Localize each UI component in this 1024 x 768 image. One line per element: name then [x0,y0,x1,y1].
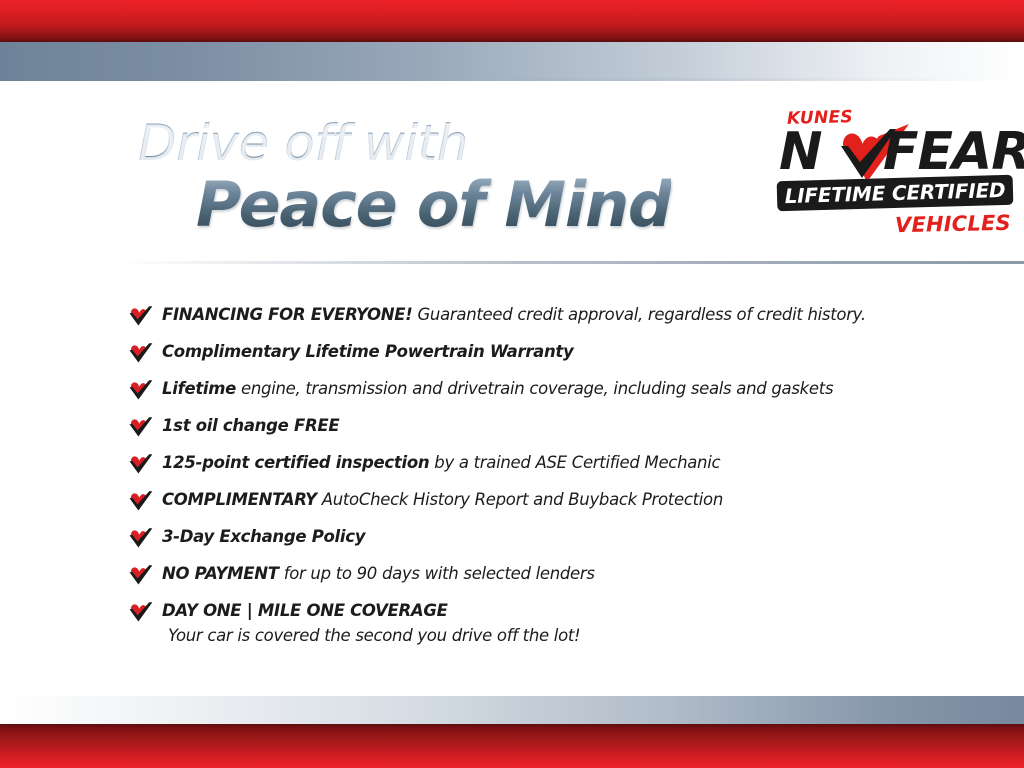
list-item-text: 1st oil change FREE [162,415,928,436]
list-item: NO PAYMENT for up to 90 days with select… [128,563,928,587]
list-item-bold: COMPLIMENTARY [162,490,317,509]
list-item-text: COMPLIMENTARY AutoCheck History Report a… [162,489,928,510]
bottom-red-stripe [0,724,1024,768]
heart-check-icon [128,416,154,438]
list-item-rest: engine, transmission and drivetrain cove… [236,379,833,398]
list-item-bold: FINANCING FOR EVERYONE! [162,305,413,324]
list-item-text: Complimentary Lifetime Powertrain Warran… [162,341,928,362]
heart-check-icon [128,564,154,586]
list-item-rest: Guaranteed credit approval, regardless o… [413,305,866,324]
heart-check-icon [128,342,154,364]
list-item: DAY ONE | MILE ONE COVERAGE Your car is … [128,600,928,646]
promo-page: Drive off with Peace of Mind KUNES N FEA… [0,0,1024,768]
list-item: Complimentary Lifetime Powertrain Warran… [128,341,928,365]
list-item-bold: Complimentary Lifetime Powertrain Warran… [162,342,573,361]
list-item-rest: for up to 90 days with selected lenders [279,564,595,583]
top-banner [0,0,1024,82]
list-item-bold: 125-point certified inspection [162,453,429,472]
list-item-text: NO PAYMENT for up to 90 days with select… [162,563,928,584]
headline-line-1: Drive off with [138,118,671,168]
heart-check-icon [128,379,154,401]
list-item: 3-Day Exchange Policy [128,526,928,550]
list-item-text: 3-Day Exchange Policy [162,526,928,547]
headline-line-2: Peace of Mind [196,174,671,236]
list-item-subtext: Your car is covered the second you drive… [168,625,928,646]
bottom-gray-stripe [0,696,1024,724]
benefits-list: FINANCING FOR EVERYONE! Guaranteed credi… [128,304,928,646]
list-item: COMPLIMENTARY AutoCheck History Report a… [128,489,928,513]
list-item-text: 125-point certified inspection by a trai… [162,452,928,473]
heart-check-icon [128,601,154,623]
list-item-bold: Lifetime [162,379,236,398]
list-item-bold: 1st oil change FREE [162,416,339,435]
page-title: Drive off with Peace of Mind [138,118,671,236]
logo-lifetime-certified-bar: LIFETIME CERTIFIED [777,175,1014,212]
top-red-stripe [0,0,1024,42]
list-item-bold: 3-Day Exchange Policy [162,527,365,546]
heart-check-icon [128,453,154,475]
logo-letter-n: N [779,126,821,178]
logo-lifetime-certified-text: LIFETIME CERTIFIED [777,175,1014,212]
logo-no-fear-wordmark: N FEAR [775,126,1015,180]
heart-check-icon [128,305,154,327]
list-item-bold: DAY ONE | MILE ONE COVERAGE [162,601,448,620]
list-item-rest: by a trained ASE Certified Mechanic [429,453,720,472]
kunes-no-fear-logo: KUNES N FEAR LIFETIME CERTIFIED VEHICLES [775,108,1015,248]
list-item: 1st oil change FREE [128,415,928,439]
bottom-banner [0,696,1024,768]
list-item: 125-point certified inspection by a trai… [128,452,928,476]
list-item: FINANCING FOR EVERYONE! Guaranteed credi… [128,304,928,328]
list-item-text: Lifetime engine, transmission and drivet… [162,378,928,399]
list-item-bold: NO PAYMENT [162,564,279,583]
top-gray-stripe [0,42,1024,81]
heart-check-icon [128,490,154,512]
logo-word-vehicles: VEHICLES [895,211,1011,237]
list-item-rest: AutoCheck History Report and Buyback Pro… [317,490,723,509]
heart-check-icon [128,527,154,549]
list-item-text: FINANCING FOR EVERYONE! Guaranteed credi… [162,304,928,325]
logo-word-fear: FEAR [883,126,1024,178]
header-divider [120,261,1024,264]
list-item-text: DAY ONE | MILE ONE COVERAGE [162,600,928,621]
list-item: Lifetime engine, transmission and drivet… [128,378,928,402]
